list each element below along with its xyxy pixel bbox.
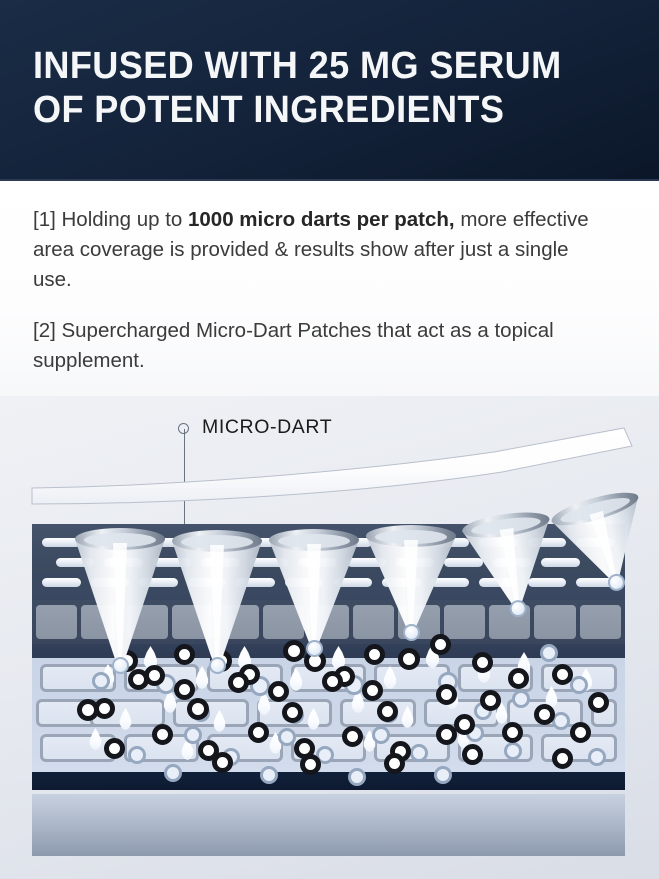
dark-ring-particle xyxy=(362,680,383,701)
blue-ring-particle xyxy=(570,676,588,694)
blue-ring-particle xyxy=(260,766,278,784)
dark-ring-particle xyxy=(364,644,385,665)
dark-ring-particle xyxy=(377,701,398,722)
dart-tip-droplet xyxy=(112,657,129,674)
dark-ring-particle xyxy=(384,753,405,774)
dark-ring-particle xyxy=(480,690,501,711)
dark-ring-particle xyxy=(94,698,115,719)
dark-ring-particle xyxy=(228,672,249,693)
dart-tip-droplet xyxy=(306,640,323,657)
dark-ring-particle xyxy=(436,684,457,705)
dark-ring-particle xyxy=(472,652,493,673)
dark-ring-particle xyxy=(462,744,483,765)
paragraph-2: [2] Supercharged Micro-Dart Patches that… xyxy=(33,316,608,376)
paragraph-1-pre: [1] Holding up to xyxy=(33,208,188,231)
patch-backing-strip xyxy=(24,426,644,506)
dark-ring-particle xyxy=(552,664,573,685)
dark-ring-particle xyxy=(588,692,609,713)
dark-ring-particle xyxy=(128,669,149,690)
dark-ring-particle xyxy=(398,648,420,670)
blue-ring-particle xyxy=(278,728,296,746)
dark-ring-particle xyxy=(187,698,209,720)
dark-ring-particle xyxy=(570,722,591,743)
micro-dart xyxy=(73,528,167,672)
dark-ring-particle xyxy=(300,754,321,775)
dark-ring-particle xyxy=(454,714,475,735)
blue-ring-particle xyxy=(410,744,428,762)
micro-dart xyxy=(459,508,564,622)
blue-ring-particle xyxy=(434,766,452,784)
dark-ring-particle xyxy=(502,722,523,743)
dark-ring-particle xyxy=(508,668,529,689)
layer-subcutaneous xyxy=(32,794,625,856)
micro-dart xyxy=(170,530,264,672)
dark-ring-particle xyxy=(534,704,555,725)
dark-ring-particle xyxy=(552,748,573,769)
blue-ring-particle xyxy=(512,690,530,708)
blue-ring-particle xyxy=(372,726,390,744)
dart-tip-droplet xyxy=(403,624,420,641)
skin-cross-section-diagram: MICRO-DART xyxy=(0,396,659,879)
dark-ring-particle xyxy=(104,738,125,759)
blue-ring-particle xyxy=(164,764,182,782)
dark-ring-particle xyxy=(322,671,343,692)
dart-tip-droplet xyxy=(209,657,226,674)
blue-ring-particle xyxy=(588,748,606,766)
dark-ring-particle xyxy=(152,724,173,745)
skin-layer-stack xyxy=(32,476,625,790)
product-infographic-page: INFUSED WITH 25 MG SERUM OF POTENT INGRE… xyxy=(0,0,659,879)
dark-ring-particle xyxy=(212,752,233,773)
dark-ring-particle xyxy=(342,726,363,747)
header-banner: INFUSED WITH 25 MG SERUM OF POTENT INGRE… xyxy=(0,0,659,181)
dark-ring-particle xyxy=(248,722,269,743)
blue-ring-particle xyxy=(128,746,146,764)
micro-dart xyxy=(267,529,361,655)
blue-ring-particle xyxy=(184,726,202,744)
body-copy-section: [1] Holding up to 1000 micro darts per p… xyxy=(0,181,659,396)
page-title: INFUSED WITH 25 MG SERUM OF POTENT INGRE… xyxy=(33,44,603,132)
dark-ring-particle xyxy=(268,681,289,702)
dark-ring-particle xyxy=(282,702,303,723)
micro-dart xyxy=(364,525,458,639)
blue-ring-particle xyxy=(348,768,366,786)
dark-ring-particle xyxy=(174,679,195,700)
paragraph-1-bold: 1000 micro darts per patch, xyxy=(188,208,455,231)
blue-ring-particle xyxy=(540,644,558,662)
blue-ring-particle xyxy=(504,742,522,760)
paragraph-1: [1] Holding up to 1000 micro darts per p… xyxy=(33,205,608,295)
blue-ring-particle xyxy=(92,672,110,690)
